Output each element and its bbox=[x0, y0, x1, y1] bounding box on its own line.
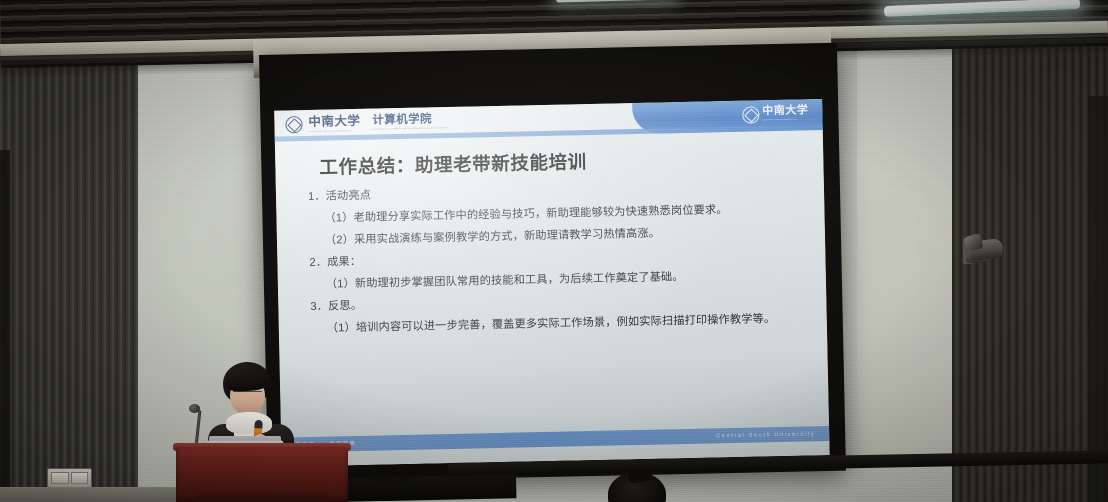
slide-body-line: （2）采用实战演练与案例教学的方式，新助理请教学习热情高涨。 bbox=[303, 225, 809, 247]
slide-body-line: 1．活动亮点 bbox=[302, 181, 808, 203]
wall-jamb-left bbox=[0, 150, 10, 502]
university-logo-left: 中南大学 CENTRAL SOUTH UNIVERSITY 计算机学院 SCHO… bbox=[285, 113, 448, 134]
lecture-hall-photo: 中南大学 CENTRAL SOUTH UNIVERSITY 计算机学院 SCHO… bbox=[0, 0, 1108, 502]
projection-screen-frame: 中南大学 CENTRAL SOUTH UNIVERSITY 计算机学院 SCHO… bbox=[259, 43, 846, 483]
presenter-scarf bbox=[226, 412, 272, 434]
department-name-cn: 计算机学院 bbox=[372, 113, 448, 126]
university-name-cn: 中南大学 bbox=[308, 115, 360, 129]
wall-light-switch[interactable] bbox=[47, 468, 92, 488]
slide-footer-right-text: Central South University bbox=[716, 431, 815, 439]
slide-body-line: （1）培训内容可以进一步完善，覆盖更多实际工作场景，例如实际扫描打印操作教学等。 bbox=[305, 313, 811, 335]
csu-emblem-badge-icon bbox=[742, 106, 757, 121]
podium-base bbox=[196, 490, 326, 502]
slide-body: 1．活动亮点（1）老助理分享实际工作中的经验与技巧，新助理能够较为快速熟悉岗位要… bbox=[302, 181, 811, 345]
presentation-slide: 中南大学 CENTRAL SOUTH UNIVERSITY 计算机学院 SCHO… bbox=[274, 99, 829, 467]
microphone-head-icon bbox=[189, 404, 200, 413]
switch-toggle-1[interactable] bbox=[51, 472, 69, 484]
slide-header: 中南大学 CENTRAL SOUTH UNIVERSITY 计算机学院 SCHO… bbox=[274, 99, 823, 143]
csu-emblem-icon bbox=[285, 116, 302, 133]
slide-body-line: （1）老助理分享实际工作中的经验与技巧，新助理能够较为快速熟悉岗位要求。 bbox=[302, 203, 808, 225]
slat-wall-left bbox=[0, 4, 138, 502]
university-logo-right: 中南大学 CENTRAL SOUTH UNIVERSITY bbox=[742, 105, 808, 121]
university-name-en: CENTRAL SOUTH UNIVERSITY bbox=[309, 129, 361, 133]
desk-row-near bbox=[336, 474, 516, 502]
switch-toggle-2[interactable] bbox=[71, 472, 89, 484]
slide-title: 工作总结：助理老带新技能培训 bbox=[319, 148, 587, 180]
department-name-en: SCHOOL OF COMPUTER SCIENCE AND ENGINEERI… bbox=[373, 127, 449, 131]
presenter-glasses bbox=[233, 391, 262, 398]
wall-panel-right bbox=[857, 30, 959, 502]
slide-body-line: （1）新助理初步掌握团队常用的技能和工具，为后续工作奠定了基础。 bbox=[304, 269, 810, 291]
projection-screen-surface: 中南大学 CENTRAL SOUTH UNIVERSITY 计算机学院 SCHO… bbox=[274, 99, 829, 467]
slide-body-line: 3．反思。 bbox=[304, 291, 810, 313]
slide-body-line: 2．成果： bbox=[303, 247, 809, 269]
badge-name-cn: 中南大学 bbox=[762, 105, 808, 117]
slat-wall-right bbox=[952, 44, 1108, 502]
wall-jamb-right bbox=[1088, 96, 1108, 502]
